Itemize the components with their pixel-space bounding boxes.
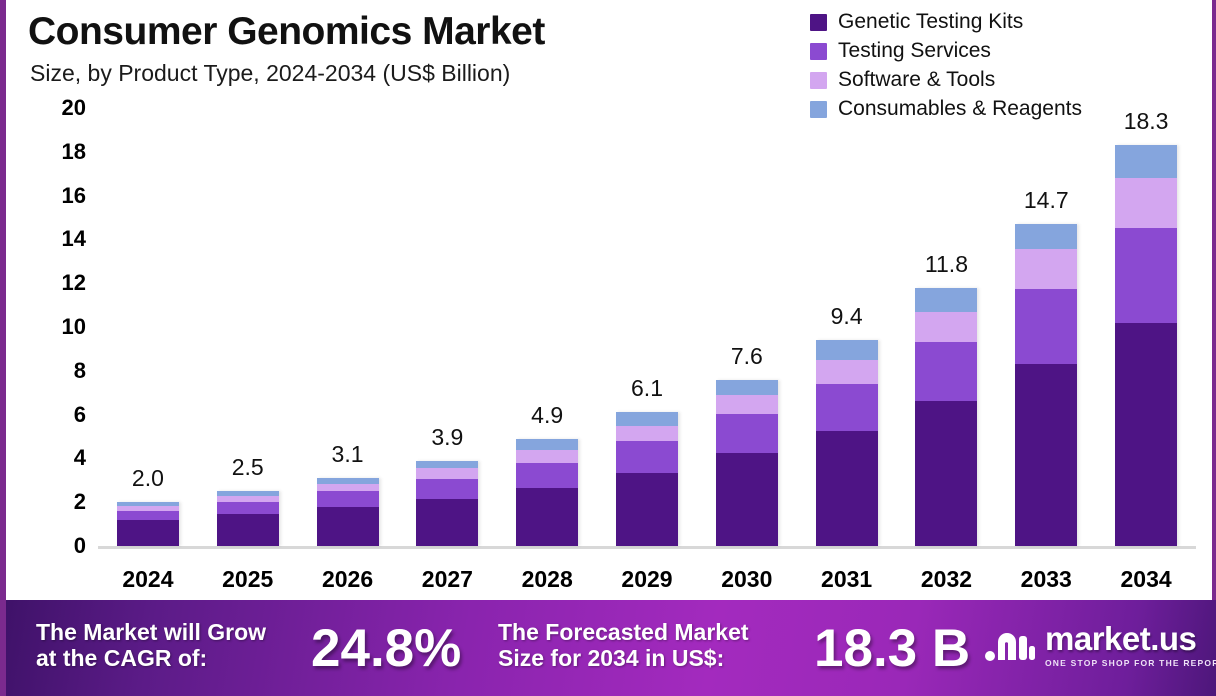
y-axis-tick: 4: [74, 445, 86, 471]
forecast-value: 18.3 B: [814, 618, 970, 679]
x-axis-tick: 2025: [222, 566, 273, 593]
bar-value-label: 3.1: [332, 441, 364, 468]
forecast-label: The Forecasted Market Size for 2034 in U…: [498, 620, 749, 672]
x-axis-tick: 2033: [1021, 566, 1072, 593]
bar-segment[interactable]: [217, 514, 279, 546]
bar-segment[interactable]: [616, 473, 678, 546]
x-axis-tick: 2024: [122, 566, 173, 593]
bar-value-label: 3.9: [431, 424, 463, 451]
bar-segment[interactable]: [915, 312, 977, 343]
x-axis-line: [98, 546, 1196, 549]
y-axis-tick: 18: [62, 139, 86, 165]
bar-column[interactable]: [1015, 224, 1077, 546]
bar-value-label: 14.7: [1024, 187, 1069, 214]
bar-segment[interactable]: [1015, 364, 1077, 546]
bar-segment[interactable]: [117, 520, 179, 546]
bar-column[interactable]: [317, 478, 379, 546]
bar-segment[interactable]: [416, 468, 478, 479]
infographic-page: Consumer Genomics Market Size, by Produc…: [0, 0, 1216, 696]
bar-segment[interactable]: [616, 426, 678, 441]
bar-value-label: 4.9: [531, 402, 563, 429]
bar-segment[interactable]: [915, 401, 977, 546]
bar-segment[interactable]: [816, 340, 878, 360]
bar-column[interactable]: [616, 412, 678, 546]
bar-column[interactable]: [117, 502, 179, 546]
y-axis-tick: 0: [74, 533, 86, 559]
y-axis-ticks: 20181614121086420: [30, 0, 86, 600]
logo-text: market.us ONE STOP SHOP FOR THE REPORTS: [1045, 622, 1216, 668]
x-axis-tick: 2034: [1120, 566, 1171, 593]
bar-value-label: 6.1: [631, 375, 663, 402]
bar-segment[interactable]: [816, 384, 878, 431]
bar-segment[interactable]: [416, 479, 478, 499]
bar-segment[interactable]: [317, 484, 379, 492]
bar-segment[interactable]: [516, 463, 578, 488]
bar-segment[interactable]: [716, 414, 778, 453]
bar-series-container: 2.02.53.13.94.96.17.69.411.814.718.3: [98, 100, 1196, 546]
forecast-label-line1: The Forecasted Market: [498, 620, 749, 646]
cagr-label-line2: at the CAGR of:: [36, 646, 266, 672]
y-axis-tick: 16: [62, 183, 86, 209]
bar-segment[interactable]: [217, 502, 279, 514]
y-axis-tick: 6: [74, 402, 86, 428]
bar-segment[interactable]: [117, 511, 179, 520]
bar-stack[interactable]: [317, 478, 379, 546]
market-us-bars-icon: [984, 622, 1036, 668]
bar-stack[interactable]: [217, 491, 279, 546]
bar-stack[interactable]: [616, 412, 678, 546]
bar-stack[interactable]: [1115, 145, 1177, 546]
bar-segment[interactable]: [1015, 249, 1077, 288]
bar-column[interactable]: [915, 288, 977, 546]
cagr-label-line1: The Market will Grow: [36, 620, 266, 646]
footer-banner: The Market will Grow at the CAGR of: 24.…: [6, 600, 1216, 696]
bar-segment[interactable]: [516, 488, 578, 546]
bar-value-label: 11.8: [925, 251, 968, 278]
bar-segment[interactable]: [915, 342, 977, 401]
bar-segment[interactable]: [616, 441, 678, 473]
x-axis-tick: 2031: [821, 566, 872, 593]
bar-segment[interactable]: [1015, 224, 1077, 249]
y-axis-tick: 2: [74, 489, 86, 515]
bar-value-label: 7.6: [731, 343, 763, 370]
bar-stack[interactable]: [716, 380, 778, 546]
x-axis-tick: 2028: [522, 566, 573, 593]
bar-segment[interactable]: [716, 395, 778, 414]
forecast-label-line2: Size for 2034 in US$:: [498, 646, 749, 672]
y-axis-tick: 20: [62, 95, 86, 121]
cagr-label: The Market will Grow at the CAGR of:: [36, 620, 266, 672]
x-axis-tick: 2026: [322, 566, 373, 593]
x-axis-tick: 2029: [621, 566, 672, 593]
y-axis-tick: 10: [62, 314, 86, 340]
bar-segment[interactable]: [1115, 228, 1177, 322]
bar-segment[interactable]: [317, 507, 379, 546]
bar-stack[interactable]: [416, 461, 478, 546]
y-axis-tick: 8: [74, 358, 86, 384]
y-axis-tick: 12: [62, 270, 86, 296]
bar-stack[interactable]: [117, 502, 179, 546]
bar-segment[interactable]: [616, 412, 678, 425]
bar-segment[interactable]: [1115, 145, 1177, 178]
cagr-value: 24.8%: [311, 618, 461, 679]
bar-segment[interactable]: [516, 450, 578, 463]
bar-column[interactable]: [516, 439, 578, 546]
logo-tagline: ONE STOP SHOP FOR THE REPORTS: [1045, 658, 1216, 668]
bar-segment[interactable]: [516, 439, 578, 450]
bar-value-label: 9.4: [831, 303, 863, 330]
bar-segment[interactable]: [317, 491, 379, 506]
bar-column[interactable]: [716, 380, 778, 546]
logo-name: market.us: [1045, 622, 1216, 655]
bar-stack[interactable]: [816, 340, 878, 546]
bar-segment[interactable]: [716, 453, 778, 546]
bar-segment[interactable]: [816, 360, 878, 384]
bar-stack[interactable]: [1015, 224, 1077, 546]
bar-column[interactable]: [1115, 145, 1177, 546]
x-axis-tick: 2027: [422, 566, 473, 593]
bar-stack[interactable]: [915, 288, 977, 546]
bar-column[interactable]: [816, 340, 878, 546]
bar-segment[interactable]: [816, 431, 878, 546]
bar-value-label: 18.3: [1124, 108, 1169, 135]
bar-segment[interactable]: [1015, 289, 1077, 365]
chart-plot-area: 20181614121086420 2.02.53.13.94.96.17.69…: [6, 0, 1216, 600]
x-axis-tick: 2030: [721, 566, 772, 593]
bar-segment[interactable]: [416, 499, 478, 546]
bar-segment[interactable]: [416, 461, 478, 469]
bar-stack[interactable]: [516, 439, 578, 546]
bar-value-label: 2.5: [232, 454, 264, 481]
bar-column[interactable]: [416, 461, 478, 546]
bar-value-label: 2.0: [132, 465, 164, 492]
bar-segment[interactable]: [915, 288, 977, 312]
bar-segment[interactable]: [1115, 178, 1177, 228]
x-axis-tick: 2032: [921, 566, 972, 593]
bar-segment[interactable]: [716, 380, 778, 395]
y-axis-tick: 14: [62, 226, 86, 252]
bar-column[interactable]: [217, 491, 279, 546]
market-us-logo[interactable]: market.us ONE STOP SHOP FOR THE REPORTS: [984, 622, 1216, 668]
bar-segment[interactable]: [1115, 323, 1177, 546]
